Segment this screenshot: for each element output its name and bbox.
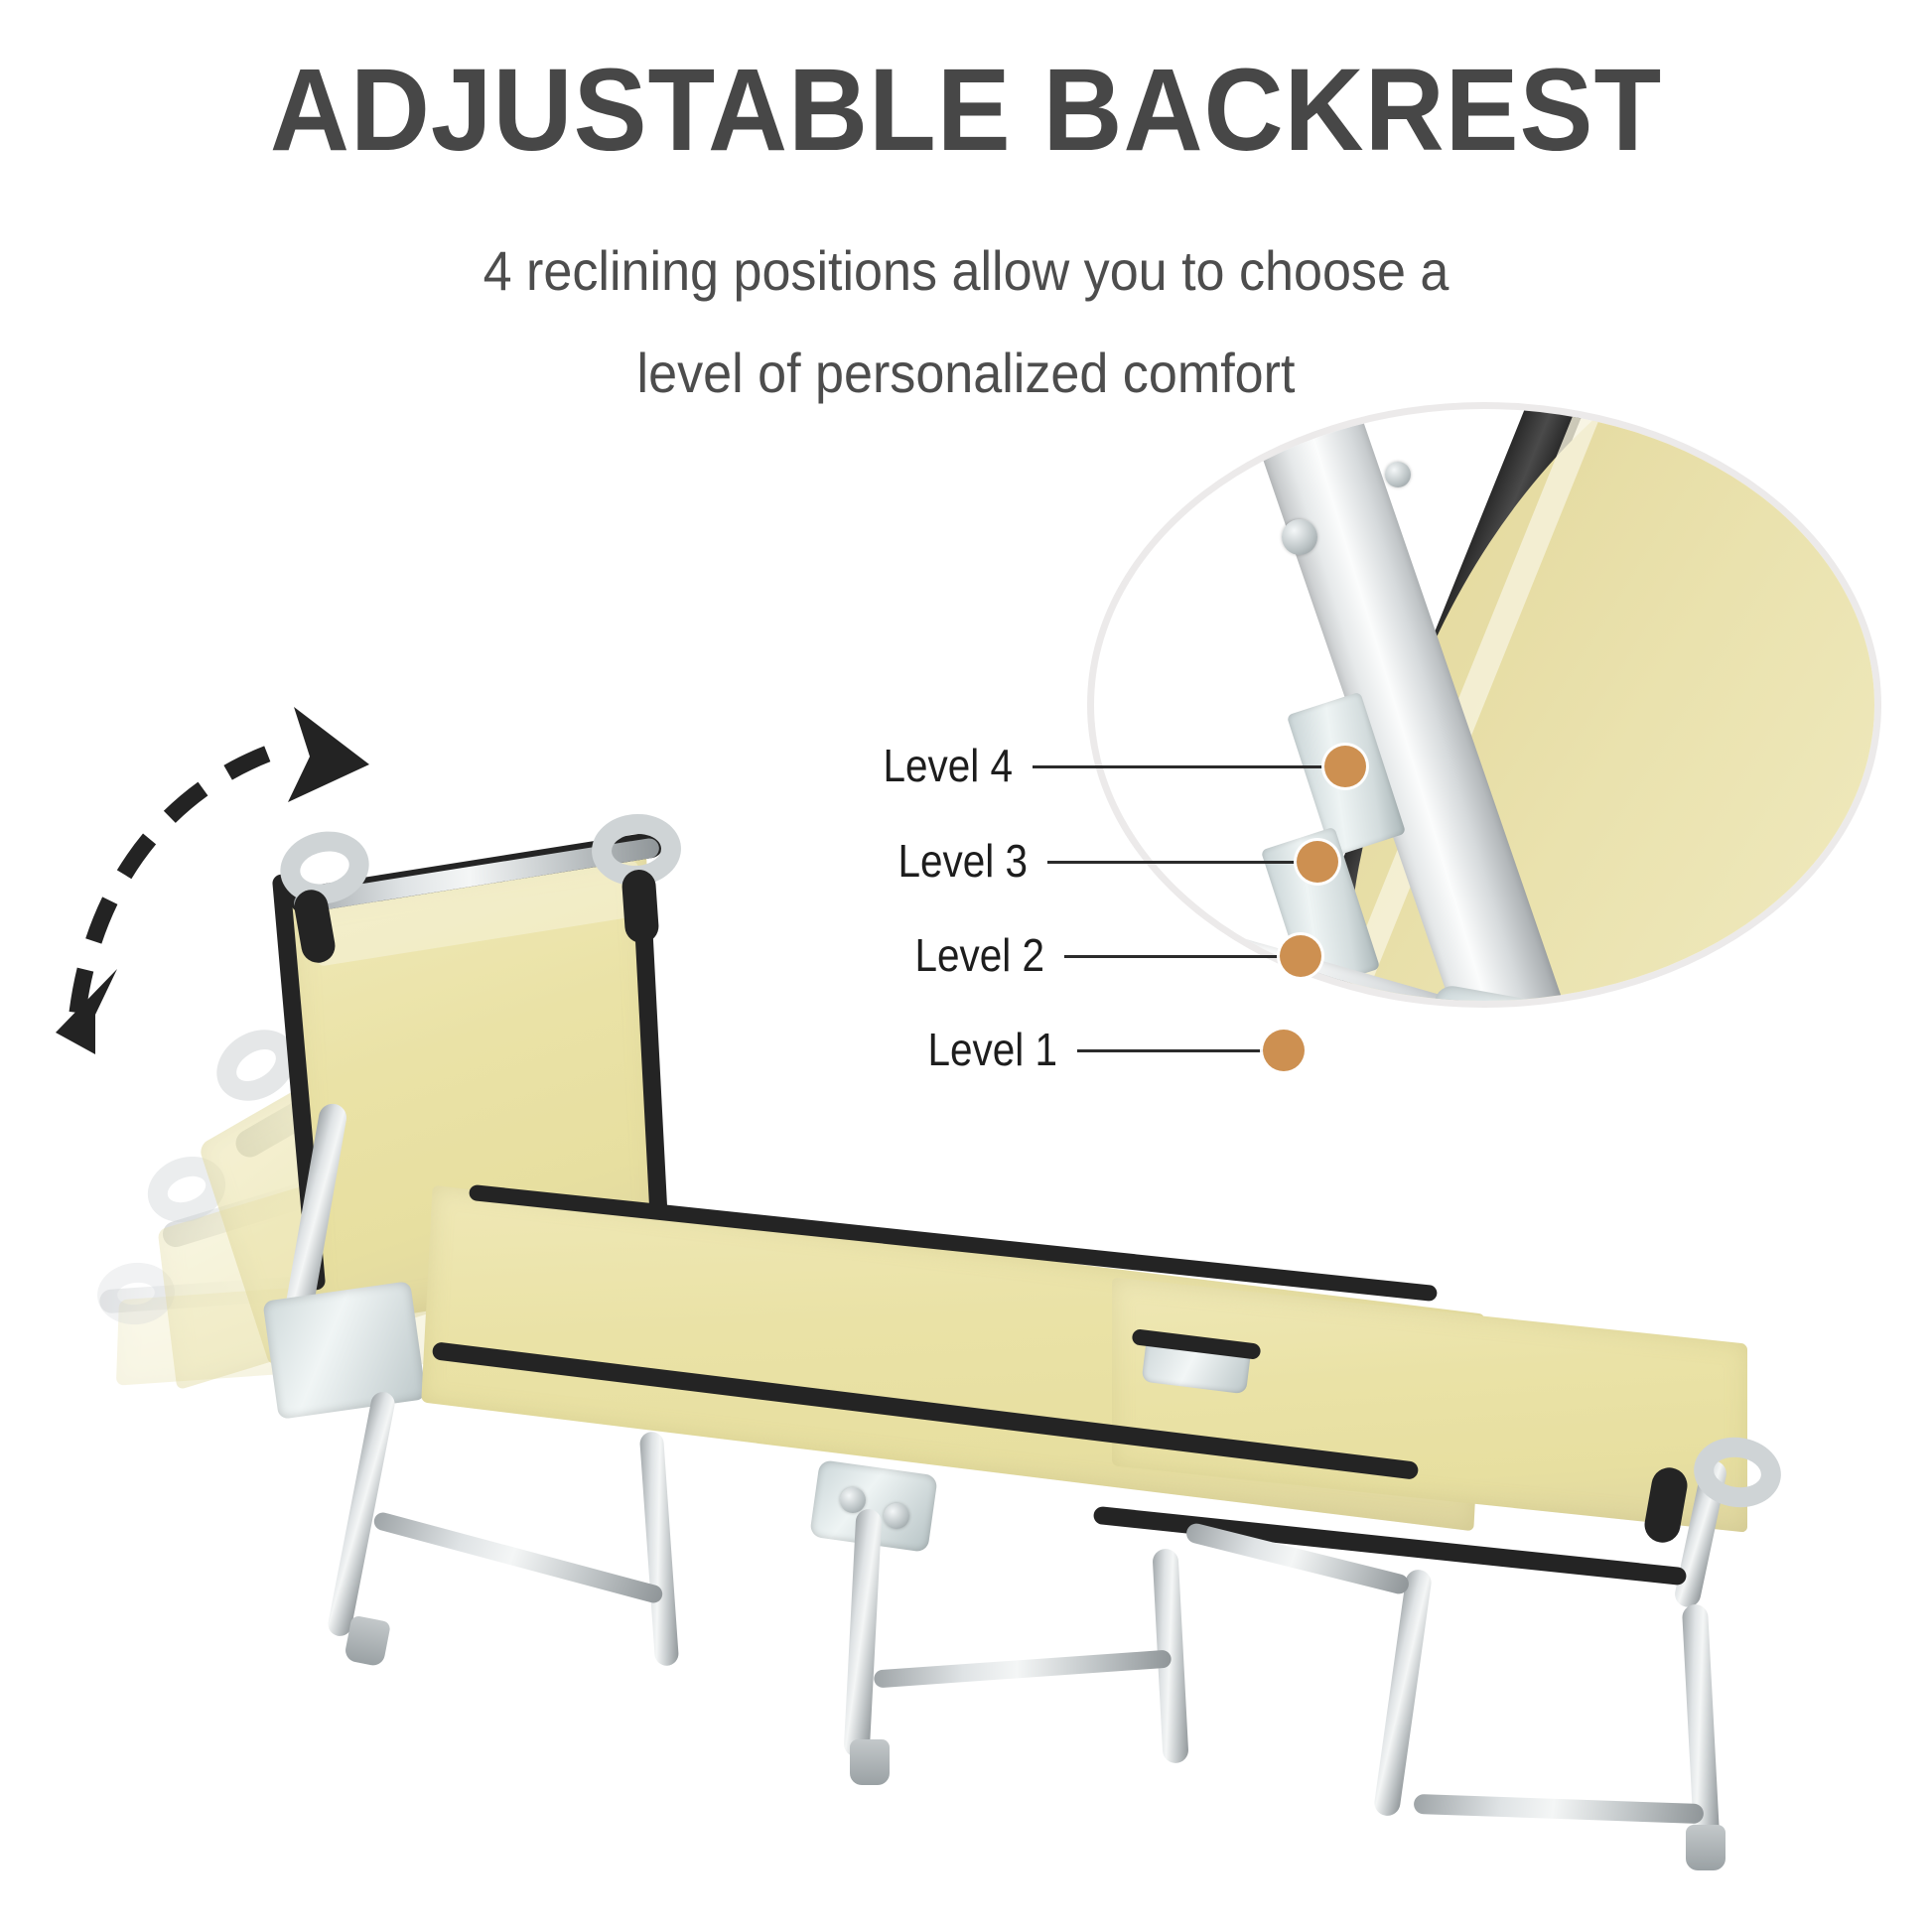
foot-leg-left	[1373, 1568, 1434, 1817]
foot-leg-crossbar	[1414, 1794, 1705, 1824]
head-leg-right	[639, 1431, 679, 1666]
head-leg-left-foot	[344, 1615, 391, 1668]
backrest-right-cap	[621, 869, 659, 944]
head-leg-crossbar	[372, 1510, 664, 1604]
mid-leg-left	[843, 1508, 882, 1757]
product-illustration	[0, 0, 1932, 1932]
rivet-icon	[840, 1487, 866, 1513]
rivet-icon	[884, 1503, 909, 1529]
mid-leg-crossbar	[874, 1650, 1173, 1689]
ratchet-bracket-cluster	[262, 1281, 426, 1420]
foot-leg-right-foot	[1686, 1825, 1725, 1870]
mid-leg-left-foot	[850, 1739, 890, 1785]
poster-canvas: ADJUSTABLE BACKREST 4 reclining position…	[0, 0, 1932, 1932]
